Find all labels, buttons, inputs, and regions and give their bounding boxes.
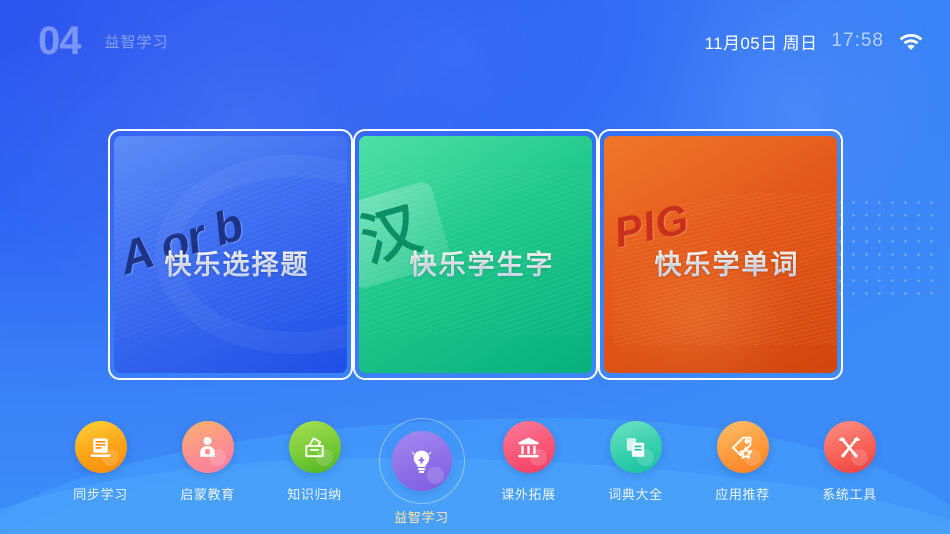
nav-item-qimeng-jiaoyu[interactable]: 启蒙教育 — [154, 421, 261, 503]
lightbulb-icon[interactable] — [392, 431, 452, 491]
app-card-happy-words[interactable]: PIG 快乐学单词 — [604, 136, 837, 373]
nav-label: 启蒙教育 — [180, 484, 234, 503]
nav-item-xitong-gongju[interactable]: 系统工具 — [796, 421, 903, 503]
card-surface-1: A or b 快乐选择题 — [114, 136, 347, 373]
app-card-row: A or b 快乐选择题 汉 快乐学生字 PIG 快乐学单词 — [0, 136, 950, 373]
wifi-icon — [898, 31, 924, 51]
app-card-happy-choice[interactable]: A or b 快乐选择题 — [114, 136, 347, 373]
card-title-3: 快乐学单词 — [655, 243, 800, 282]
nav-label: 同步学习 — [73, 484, 127, 503]
status-date: 11月05日 周日 — [705, 29, 818, 54]
status-clock: 17:58 — [831, 30, 884, 52]
status-area: 11月05日 周日 17:58 — [705, 29, 924, 54]
app-card-happy-characters[interactable]: 汉 快乐学生字 — [359, 136, 592, 373]
nav-label: 课外拓展 — [501, 484, 555, 503]
channel-number: 04 — [38, 21, 81, 61]
bottom-nav: 同步学习 启蒙教育 知识归纳 — [0, 421, 950, 526]
nav-item-yizhi-xuexi[interactable]: 益智学习 — [368, 431, 475, 526]
tag-star-icon[interactable] — [717, 421, 769, 473]
child-icon[interactable] — [182, 421, 234, 473]
nav-label: 词典大全 — [608, 484, 662, 503]
box-icon[interactable] — [289, 421, 341, 473]
screen-root: 04 益智学习 11月05日 周日 17:58 A or b 快乐选择题 — [0, 0, 950, 534]
laptop-icon[interactable] — [75, 421, 127, 473]
nav-item-tongbu-xuexi[interactable]: 同步学习 — [47, 421, 154, 503]
nav-label: 应用推荐 — [715, 484, 769, 503]
nav-label: 益智学习 — [394, 507, 448, 526]
nav-item-yingyong-tuijian[interactable]: 应用推荐 — [689, 421, 796, 503]
tools-icon[interactable] — [824, 421, 876, 473]
books-icon[interactable] — [610, 421, 662, 473]
top-bar: 04 益智学习 11月05日 周日 17:58 — [0, 0, 950, 82]
card-title-2: 快乐学生字 — [410, 243, 555, 282]
nav-label: 知识归纳 — [287, 484, 341, 503]
nav-item-cidian-daquan[interactable]: 词典大全 — [582, 421, 689, 503]
card-surface-2: 汉 快乐学生字 — [359, 136, 592, 373]
card-surface-3: PIG 快乐学单词 — [604, 136, 837, 373]
nav-item-zhishi-guina[interactable]: 知识归纳 — [261, 421, 368, 503]
section-title: 益智学习 — [105, 31, 169, 52]
nav-label: 系统工具 — [822, 484, 876, 503]
nav-item-kewai-tuozhan[interactable]: 课外拓展 — [475, 421, 582, 503]
card-title-1: 快乐选择题 — [165, 243, 310, 282]
museum-icon[interactable] — [503, 421, 555, 473]
